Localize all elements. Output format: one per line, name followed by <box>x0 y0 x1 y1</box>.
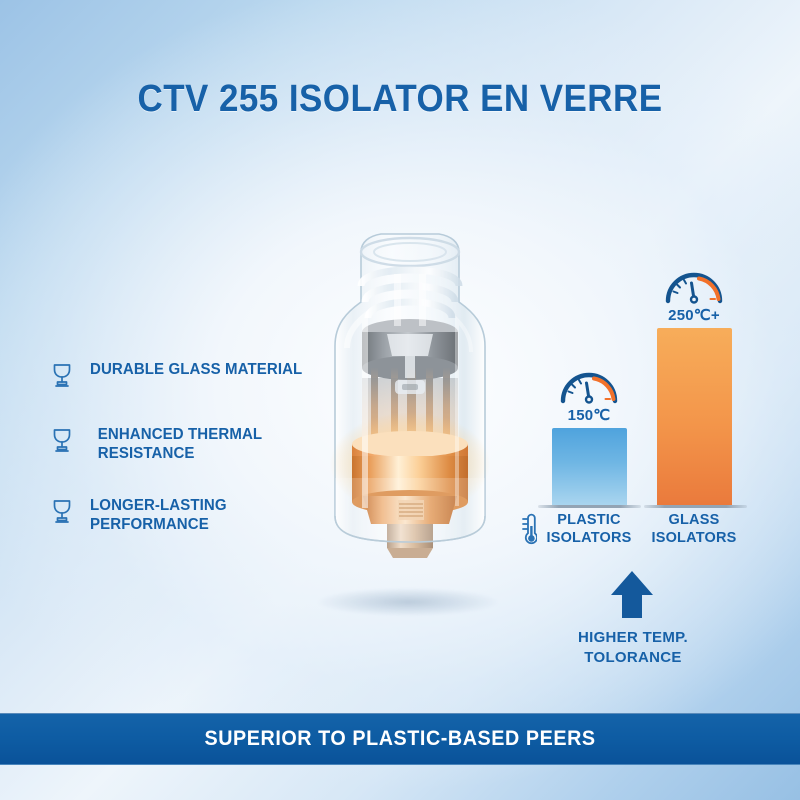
glass-isolator-product-illustration <box>295 228 525 618</box>
callout-line1: HIGHER TEMP. <box>528 628 738 648</box>
bar-label-line1: GLASS <box>639 512 749 530</box>
bar-label-line2: ISOLATORS <box>534 530 644 548</box>
gauge-icon <box>663 270 725 304</box>
temp-value-plastic: 150℃ <box>534 406 644 424</box>
page-title: CTV 255 ISOLATOR EN VERRE <box>32 78 768 121</box>
baseline-plastic <box>538 505 641 508</box>
infographic-poster: CTV 255 ISOLATOR EN VERRE DURABLE GLASS … <box>0 0 800 800</box>
bar-label-plastic: PLASTIC ISOLATORS <box>534 512 644 547</box>
higher-temp-callout: HIGHER TEMP. TOLORANCE <box>528 628 738 667</box>
bar-label-line1: PLASTIC <box>534 512 644 530</box>
bar-plastic-isolators <box>552 428 627 505</box>
glass-goblet-icon <box>50 496 78 529</box>
bar-glass-isolators <box>657 328 732 505</box>
banner-text: SUPERIOR TO PLASTIC-BASED PEERS <box>204 727 595 751</box>
bottom-banner: SUPERIOR TO PLASTIC-BASED PEERS <box>0 713 800 765</box>
temperature-comparison-chart: 150℃ 250℃+ PLASTIC ISOLATORS GLASS <box>505 250 760 680</box>
bar-label-glass: GLASS ISOLATORS <box>639 512 749 547</box>
feature-label: DURABLE GLASS MATERIAL <box>90 360 302 379</box>
glass-goblet-icon <box>50 425 78 458</box>
gauge-icon <box>558 370 620 404</box>
baseline-glass <box>644 505 747 508</box>
up-arrow-icon <box>606 568 658 620</box>
temp-value-glass: 250℃+ <box>639 306 749 324</box>
callout-line2: TOLORANCE <box>528 648 738 668</box>
bar-label-line2: ISOLATORS <box>639 530 749 548</box>
glass-goblet-icon <box>50 360 78 393</box>
